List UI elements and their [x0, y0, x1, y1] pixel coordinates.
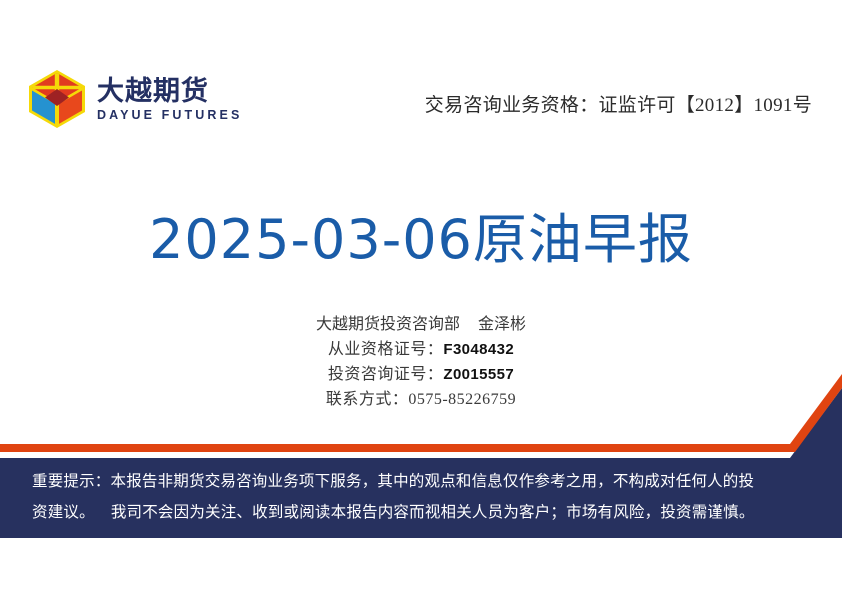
practice-cert-label: 从业资格证号： — [328, 341, 444, 358]
brand-wordmark: 大越期货 DAYUE FUTURES — [97, 76, 242, 123]
disclaimer-line-2-part-1: 资建议。 — [32, 504, 95, 521]
disclaimer-line-2: 资建议。我司不会因为关注、收到或阅读本报告内容而视相关人员为客户；市场有风险，投… — [32, 497, 814, 528]
practice-cert-line: 从业资格证号：F3048432 — [0, 337, 842, 362]
disclaimer-line-1: 重要提示：本报告非期货交易咨询业务项下服务，其中的观点和信息仅作参考之用，不构成… — [32, 466, 814, 497]
dayue-cube-logo-icon — [26, 68, 88, 130]
practice-cert-value: F3048432 — [443, 341, 514, 358]
author-department-line: 大越期货投资咨询部金泽彬 — [0, 312, 842, 337]
disclaimer-text: 重要提示：本报告非期货交易咨询业务项下服务，其中的观点和信息仅作参考之用，不构成… — [32, 466, 814, 528]
page-header: 大越期货 DAYUE FUTURES 交易咨询业务资格：证监许可【2012】10… — [0, 0, 842, 165]
disclaimer-line-2-part-2: 我司不会因为关注、收到或阅读本报告内容而视相关人员为客户；市场有风险，投资需谨慎… — [111, 504, 755, 521]
orange-band-stripe — [0, 374, 842, 452]
brand-logo: 大越期货 DAYUE FUTURES — [26, 68, 242, 130]
author-department: 大越期货投资咨询部 — [316, 316, 460, 333]
brand-name-cn: 大越期货 — [97, 76, 242, 106]
qualification-text: 交易咨询业务资格：证监许可【2012】1091号 — [425, 90, 812, 117]
author-name: 金泽彬 — [478, 316, 526, 333]
brand-name-en: DAYUE FUTURES — [97, 107, 242, 123]
orange-band-shape — [0, 370, 842, 452]
page-title: 2025-03-06原油早报 — [0, 205, 842, 275]
report-cover-page: 大越期货 DAYUE FUTURES 交易咨询业务资格：证监许可【2012】10… — [0, 0, 842, 595]
